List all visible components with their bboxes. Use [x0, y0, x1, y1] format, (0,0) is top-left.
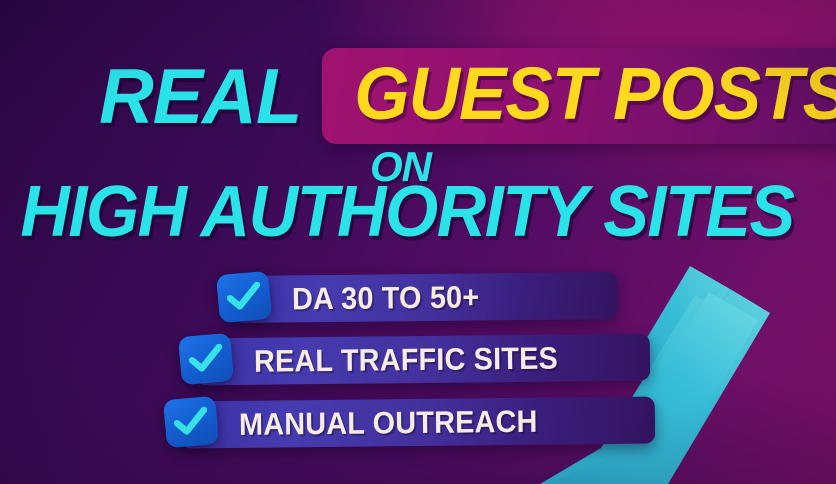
feature-label: DA 30 TO 50+ [292, 281, 480, 314]
promo-poster: REAL GUEST POSTS ON HIGH AUTHORITY SITES… [0, 0, 836, 484]
feature-item: REAL TRAFFIC SITES [180, 332, 650, 386]
feature-item: DA 30 TO 50+ [218, 270, 618, 324]
feature-label: MANUAL OUTREACH [239, 405, 538, 439]
feature-pill: MANUAL OUTREACH [181, 396, 655, 448]
headline-word-guest-posts: GUEST POSTS [355, 57, 836, 131]
feature-label: REAL TRAFFIC SITES [254, 342, 558, 376]
feature-pill: REAL TRAFFIC SITES [196, 333, 650, 385]
check-icon [216, 271, 272, 323]
check-icon [178, 333, 234, 385]
headline-word-real: REAL [99, 57, 301, 135]
check-icon [163, 396, 219, 448]
headline-connector-on: ON [370, 146, 431, 188]
feature-pill: DA 30 TO 50+ [234, 271, 618, 322]
feature-item: MANUAL OUTREACH [165, 395, 655, 449]
headline-line-1: REAL GUEST POSTS [0, 44, 760, 148]
guest-posts-badge: GUEST POSTS [322, 48, 836, 144]
